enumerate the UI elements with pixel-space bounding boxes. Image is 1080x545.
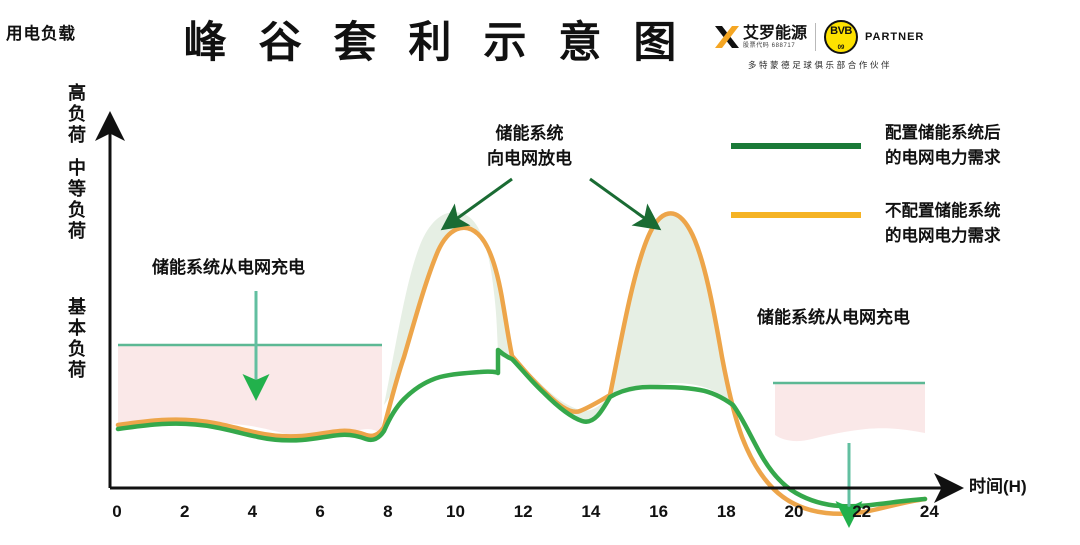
x-tick-14: 14 xyxy=(576,502,606,522)
solax-x-icon xyxy=(714,24,740,50)
page-title: 峰 谷 套 利 示 意 图 xyxy=(175,14,695,72)
x-tick-4: 4 xyxy=(237,502,267,522)
discharge-arrow-left xyxy=(448,179,512,225)
y-tick-medium-load: 中等负荷 xyxy=(66,158,88,242)
legend-label-with-storage: 配置储能系统后的电网电力需求 xyxy=(885,121,1001,171)
page-header: 峰 谷 套 利 示 意 图 艾罗能源 股票代码 688717 BVB 09 PA… xyxy=(0,0,1080,95)
x-tick-6: 6 xyxy=(305,502,335,522)
bvb-badge-bottom: 09 xyxy=(826,45,856,51)
bvb-badge-icon: BVB 09 xyxy=(824,20,858,54)
annotation-charge-right: 储能系统从电网充电 xyxy=(757,305,910,330)
x-tick-12: 12 xyxy=(508,502,538,522)
annotation-discharge: 储能系统向电网放电 xyxy=(487,121,572,171)
brand-logo-block: 艾罗能源 股票代码 688717 BVB 09 PARTNER 多特蒙德足球俱乐… xyxy=(714,20,934,78)
brand-name: 艾罗能源 xyxy=(743,25,807,42)
discharge-arrow-right xyxy=(590,179,654,225)
brand-stock-code: 股票代码 688717 xyxy=(743,42,807,50)
x-axis-title: 时间(H) xyxy=(969,472,1027,497)
y-axis-title: 用电负载 xyxy=(6,20,76,44)
x-tick-18: 18 xyxy=(711,502,741,522)
brand-footer-text: 多特蒙德足球俱乐部合作伙伴 xyxy=(714,59,926,71)
partner-label: PARTNER xyxy=(865,31,924,43)
brand-name-block: 艾罗能源 股票代码 688717 xyxy=(743,25,807,50)
brand-logo-row: 艾罗能源 股票代码 688717 BVB 09 PARTNER xyxy=(714,20,934,54)
brand-divider xyxy=(815,23,816,51)
legend-label-without-storage: 不配置储能系统的电网电力需求 xyxy=(885,199,1001,249)
x-tick-0: 0 xyxy=(102,502,132,522)
y-tick-high-load: 高负荷 xyxy=(66,83,88,146)
bvb-badge-top: BVB xyxy=(826,26,856,37)
x-tick-24: 24 xyxy=(914,502,944,522)
y-tick-base-load: 基本负荷 xyxy=(66,297,88,381)
x-tick-8: 8 xyxy=(373,502,403,522)
annotation-charge-left: 储能系统从电网充电 xyxy=(152,255,305,280)
charge-region-right xyxy=(775,383,925,441)
x-tick-16: 16 xyxy=(644,502,674,522)
x-tick-10: 10 xyxy=(441,502,471,522)
x-tick-22: 22 xyxy=(847,502,877,522)
x-tick-2: 2 xyxy=(170,502,200,522)
x-tick-20: 20 xyxy=(779,502,809,522)
